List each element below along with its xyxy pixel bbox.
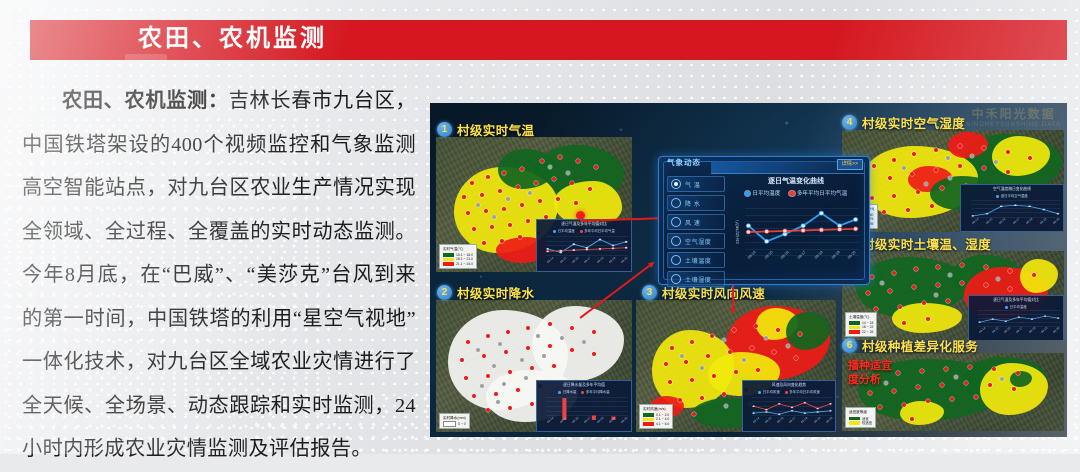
inset-x-ticks: 08-1408-1508-1608-1708-1808-1908-20 xyxy=(971,222,1060,230)
detail-panel-title: 气象动态 xyxy=(667,157,701,169)
temperature-chart: 逐日气温变化曲线 日平均温度 多年平均日平均气温 日平均气温(℃) xyxy=(731,176,861,278)
x-tick-label: 08-20 xyxy=(847,250,868,271)
inset-chart-temperature: 逐日气温及多年平均值对比 日平均温度 多年平均日平均气温 08-1408-150 xyxy=(536,219,632,272)
panel-number-1: 1 xyxy=(437,122,452,137)
map-card-precipitation[interactable]: 实时降水(mm) 0 ~ 0 逐日降水量及多年平均值 日降水量 多年平均降水量 xyxy=(436,300,632,432)
inset-x-ticks: 08-1408-1508-1608-1708-1808-1908-20 xyxy=(546,421,628,430)
inset-chart-wind: 风速及风向变化趋势 日平均风速 多年平均日平均风速 08-1408-1508-1 xyxy=(742,380,836,432)
radio-dot-icon xyxy=(671,255,681,265)
inset-chart-title: 逐日气温及多年平均值对比 xyxy=(537,222,631,227)
callout-pointer-panel3 xyxy=(732,285,734,313)
inset-x-ticks: 08-1408-1508-1608-1708-1808-1908-20 xyxy=(752,421,832,430)
radio-label: 气 温 xyxy=(685,180,700,189)
slide-canvas: 农田、农机监测 农田、农机监测：吉林长春市九台区，中国铁塔架设的400个视频监控… xyxy=(0,0,1080,454)
inset-legend-daily: 日平均温度 xyxy=(553,228,574,233)
inset-legend-multiyear: 多年平均日平均气温 xyxy=(580,228,615,233)
map-card-wind[interactable]: 实时风速(m/s) 0.1 ~ 2.0 2.1 ~ 4.0 4.1 ~ 6.0 … xyxy=(636,300,836,432)
map-card-crop-service[interactable]: 播种适宜 度分析 适宜度等级 适宜 较适宜 xyxy=(842,353,1064,431)
radio-dot-icon xyxy=(671,274,681,284)
inset-chart-title: 逐日降水量及多年平均值 xyxy=(537,383,631,388)
metric-radio-group[interactable]: 气 温 降 水 风 速 空气湿度 土壤温度 xyxy=(667,176,725,290)
inset-chart-title: 风速及风向变化趋势 xyxy=(743,383,835,388)
panel-label-2[interactable]: 2 村级实时降水 xyxy=(437,283,534,302)
inset-legend-hum-daily: 逐日平均空气湿度 xyxy=(996,193,1028,198)
panel6-overlay-text: 播种适宜 度分析 xyxy=(848,359,892,387)
inset-x-ticks: 08-1408-1508-1608-1708-1808-1908-20 xyxy=(546,261,628,270)
radio-option-precipitation[interactable]: 降 水 xyxy=(667,195,725,211)
panel-title-4: 村级实时空气湿度 xyxy=(862,113,965,132)
paragraph-lead: 农田、农机监测： xyxy=(62,90,229,112)
legend-entry-daily[interactable]: 日平均温度 xyxy=(745,189,780,197)
watermark: 中禾阳光数据 SINOHEYSUNSHINE DATA xyxy=(966,105,1061,128)
panel-label-6[interactable]: 6 村级种植差异化服务 xyxy=(842,336,978,355)
legend-title: 适宜度等级 xyxy=(849,410,872,415)
map-card-humidity[interactable]: 空气湿度(%RH) 40 ~ 60 60 ~ 75 75 ~ 95 空气湿度随日… xyxy=(842,130,1064,232)
panel-number-2: 2 xyxy=(437,285,452,300)
series-points-multiyear xyxy=(746,227,857,234)
map-legend-wind: 实时风速(m/s) 0.1 ~ 2.0 2.1 ~ 4.0 4.1 ~ 6.0 xyxy=(639,404,673,429)
map-legend-temperature: 实时气温(℃) 15.1 ~ 18.0 18.1 ~ 21.0 21.1 ~ 2… xyxy=(439,244,477,269)
inset-chart-soil: 逐日气温及多年平均值对比 日平均温度 08-1408-1508-1608-170… xyxy=(968,295,1064,340)
chart-x-ticks: 08-14 08-15 08-16 08-17 08-18 08-19 08-2… xyxy=(745,257,859,277)
panel-number-6: 6 xyxy=(842,338,857,353)
watermark-cn: 中禾阳光数据 xyxy=(966,105,1061,122)
map-legend-precipitation: 实时降水(mm) 0 ~ 0 xyxy=(439,413,470,429)
radio-option-soil-humidity[interactable]: 土壤湿度 xyxy=(667,271,725,287)
radio-label: 空气湿度 xyxy=(685,237,711,246)
panel-number-3: 3 xyxy=(642,285,657,300)
radio-option-soil-temperature[interactable]: 土壤温度 xyxy=(667,252,725,268)
radio-dot-icon xyxy=(671,179,681,189)
panel-title-6: 村级种植差异化服务 xyxy=(862,336,978,355)
radio-label: 土壤湿度 xyxy=(685,275,711,284)
radio-dot-icon xyxy=(671,198,681,208)
legend-title: 实时风速(m/s) xyxy=(643,407,669,412)
radio-option-air-temperature[interactable]: 气 温 xyxy=(667,176,725,192)
legend-title: 实时气温(℃) xyxy=(443,247,473,252)
panel-title-5: 村级实时土壤温、湿度 xyxy=(862,234,991,253)
weather-detail-panel[interactable]: 气象动态 详情>> 气 温 降 水 风 速 空气湿度 xyxy=(658,156,870,285)
chart-legend[interactable]: 日平均温度 多年平均日平均气温 xyxy=(731,189,861,197)
inset-x-ticks: 08-1408-1508-1608-1708-1808-1908-20 xyxy=(978,331,1060,339)
detail-more-button[interactable]: 详情>> xyxy=(837,159,863,170)
legend-title: 土壤温度(℃) xyxy=(849,315,873,320)
inset-chart-humidity: 空气湿度随日变化曲线 逐日平均空气湿度 08-1408-1508-1608-17… xyxy=(960,184,1064,232)
page-title: 农田、农机监测 xyxy=(138,19,327,59)
inset-legend-wind-daily: 日平均风速 xyxy=(758,389,779,394)
radio-label: 风 速 xyxy=(685,218,700,227)
inset-chart-title: 逐日气温及多年平均值对比 xyxy=(969,298,1063,303)
chart-plot-area xyxy=(745,208,859,256)
inset-legend-daily: 日平均温度 xyxy=(1005,304,1026,309)
legend-title: 实时降水(mm) xyxy=(443,416,466,421)
inset-legend-precip-multi: 多年平均降水量 xyxy=(581,389,609,394)
panel-label-4[interactable]: 4 村级实时空气湿度 xyxy=(842,113,965,132)
radio-option-wind-speed[interactable]: 风 速 xyxy=(667,214,725,230)
panel-title-2: 村级实时降水 xyxy=(457,283,534,302)
map-legend-crop: 适宜度等级 适宜 较适宜 xyxy=(845,407,876,428)
radio-dot-icon xyxy=(671,236,681,246)
legend-entry-multiyear[interactable]: 多年平均日平均气温 xyxy=(789,189,847,197)
chart-y-axis-label: 日平均气温(℃) xyxy=(731,208,741,256)
watermark-en: SINOHEYSUNSHINE DATA xyxy=(966,122,1061,128)
paragraph-text: 吉林长春市九台区，中国铁塔架设的400个视频监控和气象监测高空智能站点，对九台区… xyxy=(22,90,416,460)
map-card-temperature[interactable]: 实时气温(℃) 15.1 ~ 18.0 18.1 ~ 21.0 21.1 ~ 2… xyxy=(436,137,632,272)
inset-legend-wind-multi: 多年平均日平均风速 xyxy=(785,389,820,394)
inset-legend-precip-daily: 日降水量 xyxy=(558,389,576,394)
panel-number-4: 4 xyxy=(842,115,857,130)
chart-title: 逐日气温变化曲线 xyxy=(731,176,861,186)
radio-option-air-humidity[interactable]: 空气湿度 xyxy=(667,233,725,249)
legend-row-label: 18.1 ~ 21.0 xyxy=(456,257,473,261)
inset-chart-precipitation: 逐日降水量及多年平均值 日降水量 多年平均降水量 08-1408-1508-16… xyxy=(536,380,632,432)
inset-chart-title: 空气湿度随日变化曲线 xyxy=(961,187,1063,192)
radio-label: 降 水 xyxy=(685,199,700,208)
panel-title-1: 村级实时气温 xyxy=(457,120,534,139)
map-card-soil[interactable]: 土壤温度(℃) 14 ~ 18 18 ~ 22 22 ~ 26 逐日气温及多年平… xyxy=(842,251,1064,340)
panel-label-1[interactable]: 1 村级实时气温 xyxy=(437,120,534,139)
radio-dot-icon xyxy=(671,217,681,227)
dashboard-screenshot: 中禾阳光数据 SINOHEYSUNSHINE DATA 1 村级实时气温 xyxy=(430,103,1067,437)
legend-row-label: 21.1 ~ 24.0 xyxy=(456,262,473,266)
radio-label: 土壤温度 xyxy=(685,256,711,265)
body-paragraph: 农田、农机监测：吉林长春市九台区，中国铁塔架设的400个视频监控和气象监测高空智… xyxy=(22,80,416,472)
legend-row-label: 15.1 ~ 18.0 xyxy=(456,253,473,257)
map-legend-soil: 土壤温度(℃) 14 ~ 18 18 ~ 22 22 ~ 26 xyxy=(845,312,877,337)
